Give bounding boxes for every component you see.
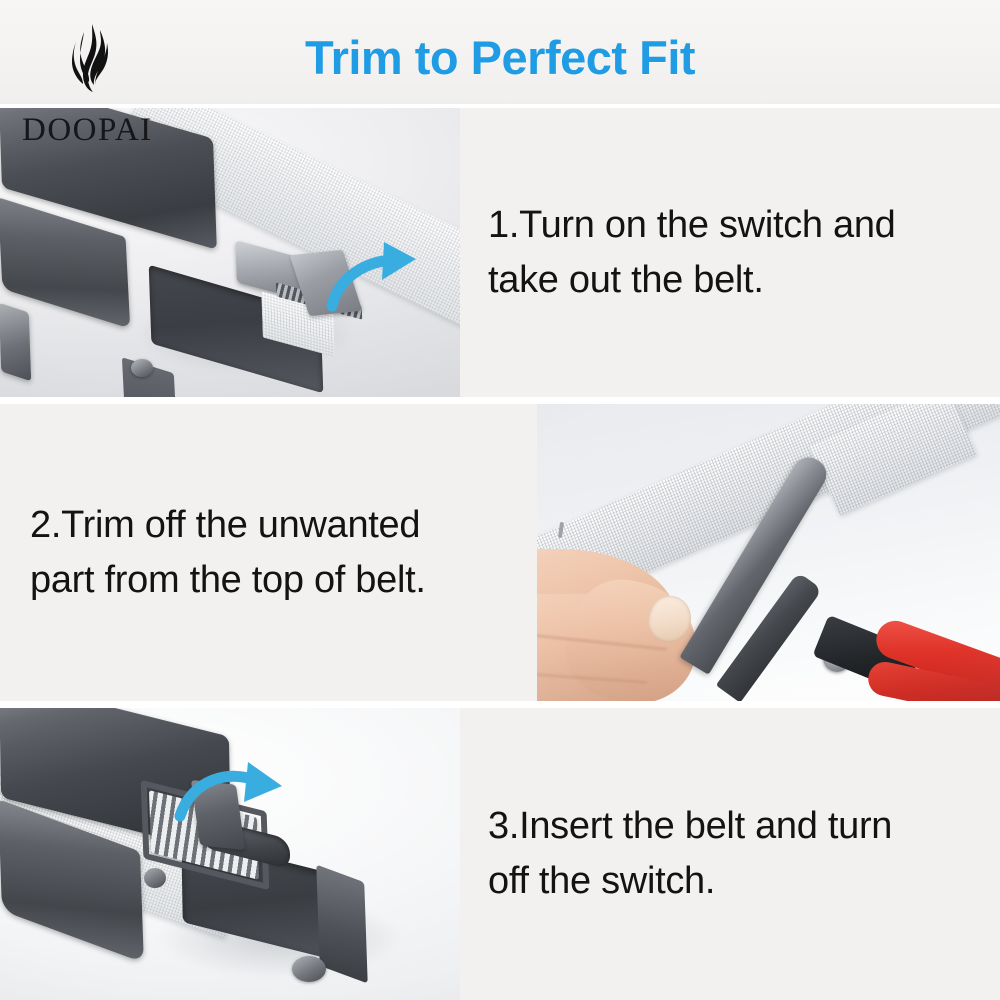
product-instruction-image: Trim to Perfect Fit DOOPAI [0,0,1000,1000]
step-2-photo [537,404,1000,702]
brand-logo-text: DOOPAI [22,112,153,149]
step-1-text: 1.Turn on the switch and take out the be… [460,198,912,308]
step-2-text-area: 2.Trim off the unwanted part from the to… [0,404,538,702]
step-panel-2: 2.Trim off the unwanted part from the to… [0,404,1000,702]
panel-divider-1 [0,397,1000,404]
header-bar: Trim to Perfect Fit [0,0,1000,104]
step-panel-3: 3.Insert the belt and turn off the switc… [0,708,1000,1000]
step-panel-1: 1.Turn on the switch and take out the be… [0,108,1000,398]
step-1-text-area: 1.Turn on the switch and take out the be… [460,108,1000,398]
panel-divider-2 [0,701,1000,708]
step-2-text: 2.Trim off the unwanted part from the to… [0,498,438,608]
step-3-text-area: 3.Insert the belt and turn off the switc… [460,708,1000,1000]
page-title: Trim to Perfect Fit [0,30,1000,85]
step-3-text: 3.Insert the belt and turn off the switc… [460,799,908,909]
